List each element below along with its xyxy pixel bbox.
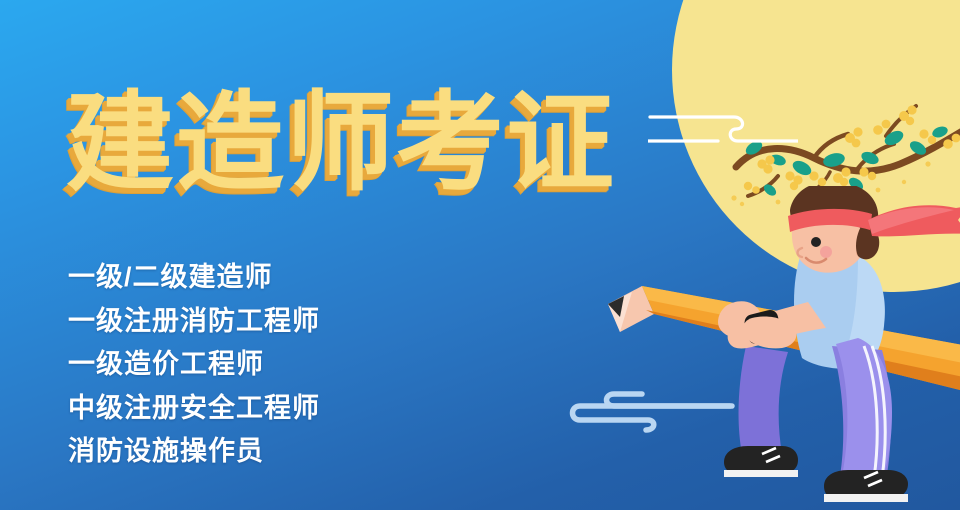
page-title: 建造师考证 [66, 86, 616, 199]
list-item: 中级注册安全工程师 [68, 387, 320, 431]
certification-list: 一级/二级建造师 一级注册消防工程师 一级造价工程师 中级注册安全工程师 消防设… [68, 256, 320, 474]
list-item: 一级注册消防工程师 [68, 300, 320, 344]
list-item: 一级造价工程师 [68, 343, 320, 387]
cloud-line-white-icon [648, 104, 798, 164]
promo-poster: 建造师考证 一级/二级建造师 一级注册消防工程师 一级造价工程师 中级注册安全工… [0, 0, 960, 510]
student-rider-illustration [596, 186, 960, 510]
list-item: 一级/二级建造师 [68, 256, 320, 300]
list-item: 消防设施操作员 [68, 430, 320, 474]
